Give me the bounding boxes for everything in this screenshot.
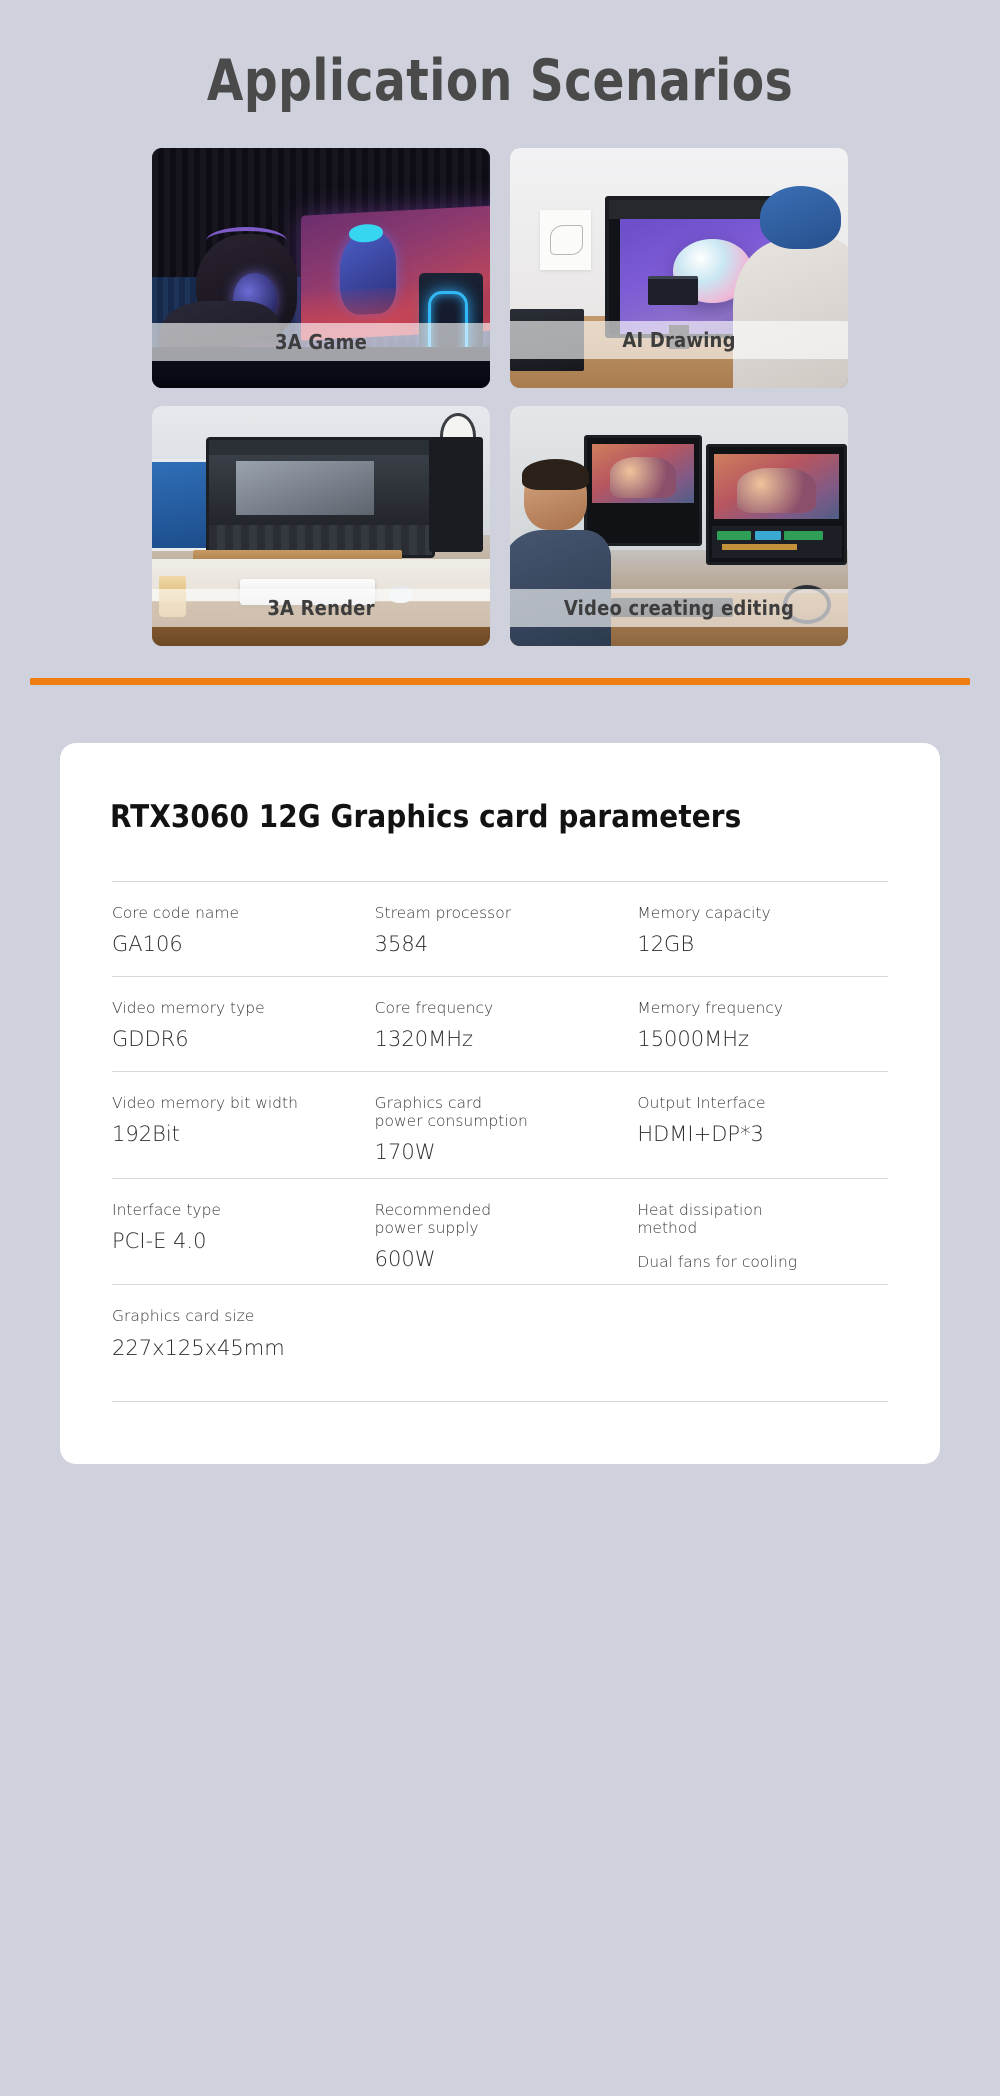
spec-cell-stream-processor: Stream processor 3584 <box>375 904 626 964</box>
scenario-caption-label: Video creating editing <box>564 596 794 620</box>
scenario-card-3a-game[interactable]: 3A Game <box>152 148 490 388</box>
app-menubar <box>209 440 432 455</box>
spec-cell-video-memory-type: Video memory type GDDR6 <box>112 999 363 1059</box>
graphics-card-render <box>648 276 698 304</box>
spec-cell-video-memory-bit-width: Video memory bit width 192Bit <box>112 1094 363 1166</box>
scenario-caption-band: Video creating editing <box>510 589 848 627</box>
spec-value: GA106 <box>112 932 363 957</box>
video-subject <box>737 468 817 513</box>
headset-band <box>206 227 287 255</box>
video-subject <box>610 457 676 498</box>
spec-value: HDMI+DP*3 <box>637 1122 888 1147</box>
spec-row: Video memory type GDDR6 Core frequency 1… <box>112 976 888 1071</box>
spec-panel: RTX3060 12G Graphics card parameters Cor… <box>60 743 940 1465</box>
person-hair <box>522 459 589 491</box>
timeline-clip <box>784 531 823 539</box>
product-detail-page: Application Scenarios 3A G <box>0 0 1000 2096</box>
spec-row: Graphics card size 227x125x45mm <box>112 1284 888 1402</box>
spec-value: GDDR6 <box>112 1027 363 1052</box>
spec-label: Heat dissipation method <box>637 1201 888 1238</box>
scenario-card-video-editing[interactable]: Video creating editing <box>510 406 848 646</box>
spec-row: Interface type PCI-E 4.0 Recommended pow… <box>112 1178 888 1285</box>
game-character <box>340 231 396 316</box>
scenario-caption-band: AI Drawing <box>510 321 848 359</box>
person-torso <box>510 530 611 646</box>
scenario-caption-label: 3A Game <box>275 330 367 354</box>
scenario-caption-label: 3A Render <box>267 596 374 620</box>
spec-row: Video memory bit width 192Bit Graphics c… <box>112 1071 888 1178</box>
spec-label: Core code name <box>112 904 363 922</box>
spec-cell-recommended-power-supply: Recommended power supply 600W <box>375 1201 626 1273</box>
blue-beanie-hat <box>760 186 841 248</box>
spec-label: Recommended power supply <box>375 1201 626 1238</box>
spec-row: Core code name GA106 Stream processor 35… <box>112 881 888 976</box>
spec-value: 227x125x45mm <box>112 1336 363 1361</box>
spec-value: 1320MHz <box>375 1027 626 1052</box>
spec-panel-title: RTX3060 12G Graphics card parameters <box>110 799 890 835</box>
video-preview-frame <box>714 454 838 519</box>
spec-cell-graphics-card-size: Graphics card size 227x125x45mm <box>112 1307 363 1367</box>
spec-value: 15000MHz <box>637 1027 888 1052</box>
timeline-clip <box>755 531 781 539</box>
scenario-caption-band: 3A Render <box>152 589 490 627</box>
spec-cell-memory-capacity: Memory capacity 12GB <box>637 904 888 964</box>
spec-value: 192Bit <box>112 1122 363 1147</box>
spec-cell-memory-frequency: Memory frequency 15000MHz <box>637 999 888 1059</box>
spec-label: Video memory bit width <box>112 1094 363 1112</box>
spec-cell-power-consumption: Graphics card power consumption 170W <box>375 1094 626 1166</box>
editing-monitor <box>706 444 847 565</box>
spec-label: Core frequency <box>375 999 626 1017</box>
spec-cell-empty <box>375 1307 626 1367</box>
spec-cell-heat-dissipation-method: Heat dissipation method Dual fans for co… <box>637 1201 888 1273</box>
spec-label: Graphics card power consumption <box>375 1094 626 1131</box>
spec-label: Memory capacity <box>637 904 888 922</box>
scenario-card-ai-drawing[interactable]: AI Drawing <box>510 148 848 388</box>
spec-value: PCI-E 4.0 <box>112 1229 363 1254</box>
spec-cell-output-interface: Output Interface HDMI+DP*3 <box>637 1094 888 1166</box>
vertical-info-panel <box>429 437 483 552</box>
spec-cell-core-code-name: Core code name GA106 <box>112 904 363 964</box>
section-divider-wrap <box>0 678 1000 685</box>
wall-sketch-artwork <box>540 210 591 270</box>
spec-cell-core-frequency: Core frequency 1320MHz <box>375 999 626 1059</box>
orange-divider <box>30 678 970 685</box>
editing-timeline <box>712 526 842 558</box>
app-workspace <box>209 455 432 525</box>
scenario-card-3a-render[interactable]: 3A Render <box>152 406 490 646</box>
page-title: Application Scenarios <box>40 0 960 112</box>
spec-label: Interface type <box>112 1201 363 1219</box>
3d-viewport <box>236 461 374 516</box>
spec-label: Output Interface <box>637 1094 888 1112</box>
scenario-caption-band: 3A Game <box>152 323 490 361</box>
spec-value: 170W <box>375 1140 626 1165</box>
spec-table: Core code name GA106 Stream processor 35… <box>110 881 890 1403</box>
scenario-caption-label: AI Drawing <box>622 328 735 352</box>
spec-label: Video memory type <box>112 999 363 1017</box>
ultrawide-monitor <box>206 437 435 558</box>
timeline-clip <box>717 531 751 539</box>
spec-cell-interface-type: Interface type PCI-E 4.0 <box>112 1201 363 1273</box>
spec-label: Graphics card size <box>112 1307 363 1325</box>
spec-label: Memory frequency <box>637 999 888 1017</box>
spec-value: 600W <box>375 1247 626 1272</box>
spec-value: 3584 <box>375 932 626 957</box>
spec-value: Dual fans for cooling <box>637 1253 888 1272</box>
spec-value: 12GB <box>637 932 888 957</box>
designer-person <box>733 239 848 388</box>
timeline-clip <box>722 544 797 550</box>
spec-cell-empty <box>637 1307 888 1367</box>
secondary-monitor <box>152 459 209 551</box>
scenario-grid: 3A Game <box>152 148 848 646</box>
spec-label: Stream processor <box>375 904 626 922</box>
